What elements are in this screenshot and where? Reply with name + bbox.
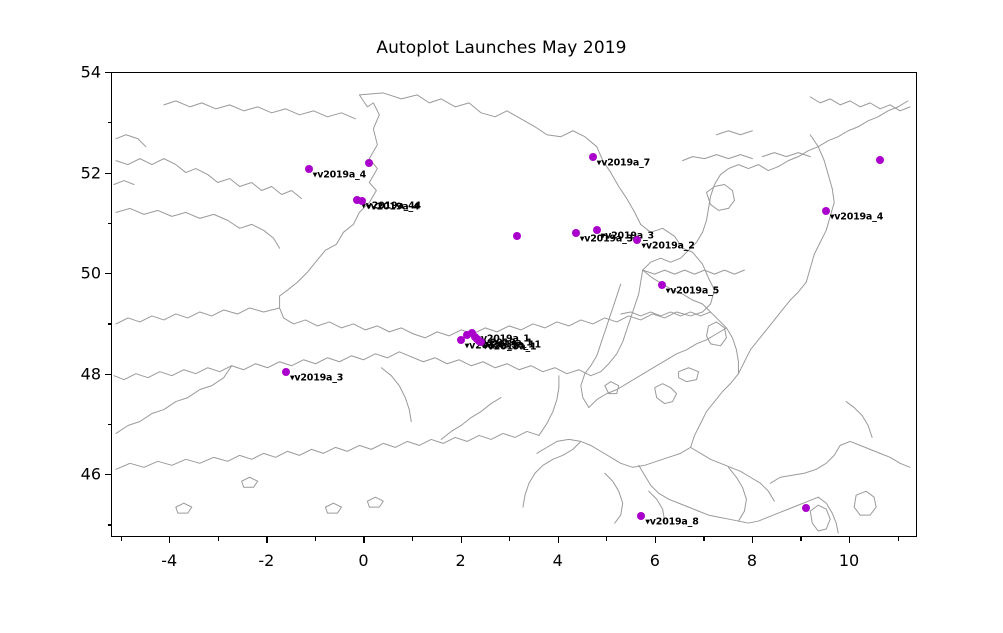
y-axis-tick-label: 54 bbox=[71, 63, 101, 82]
x-axis-tick-label: -4 bbox=[161, 551, 177, 570]
scatter-point[interactable] bbox=[633, 236, 641, 244]
scatter-point-label: ▾v2019a_5 bbox=[666, 286, 719, 297]
x-axis-minor-tick bbox=[606, 537, 607, 541]
scatter-point-label: ▾v2019a_4 bbox=[830, 212, 883, 223]
x-axis-minor-tick bbox=[509, 537, 510, 541]
x-axis-tick bbox=[752, 537, 753, 543]
x-axis-minor-tick bbox=[412, 537, 413, 541]
y-axis-tick bbox=[105, 72, 111, 73]
scatter-point[interactable] bbox=[637, 512, 645, 520]
scatter-point[interactable] bbox=[365, 159, 373, 167]
y-axis-minor-tick bbox=[108, 122, 112, 123]
x-axis-tick bbox=[849, 537, 850, 543]
x-axis-minor-tick bbox=[898, 537, 899, 541]
y-axis-tick bbox=[105, 173, 111, 174]
y-axis-tick-label: 48 bbox=[71, 364, 101, 383]
scatter-point[interactable] bbox=[305, 165, 313, 173]
scatter-point-label: ▾v2019a_8 bbox=[645, 517, 698, 528]
x-axis-tick bbox=[363, 537, 364, 543]
scatter-point[interactable] bbox=[822, 207, 830, 215]
x-axis-tick bbox=[655, 537, 656, 543]
x-axis-tick-label: 0 bbox=[358, 551, 368, 570]
scatter-point-label: ▾v2019a_7 bbox=[597, 158, 650, 169]
scatter-point[interactable] bbox=[513, 232, 521, 240]
scatter-point-label: ▾v2019a_3 bbox=[601, 230, 654, 241]
y-axis-minor-tick bbox=[108, 524, 112, 525]
coastline-map bbox=[112, 73, 916, 536]
x-axis-minor-tick bbox=[121, 537, 122, 541]
scatter-point[interactable] bbox=[802, 504, 810, 512]
y-axis-tick bbox=[105, 273, 111, 274]
y-axis-tick bbox=[105, 474, 111, 475]
y-axis-minor-tick bbox=[108, 424, 112, 425]
scatter-point[interactable] bbox=[658, 281, 666, 289]
x-axis-minor-tick bbox=[315, 537, 316, 541]
scatter-point-label: ▾v2019a_2 bbox=[641, 241, 694, 252]
y-axis-tick-label: 46 bbox=[71, 465, 101, 484]
scatter-point-label: ▾v2019a_1 bbox=[483, 342, 536, 353]
scatter-point-label: ▾v2019a_4 bbox=[313, 169, 366, 180]
x-axis-tick bbox=[169, 537, 170, 543]
y-axis-tick-label: 50 bbox=[71, 264, 101, 283]
x-axis-tick-label: 8 bbox=[747, 551, 757, 570]
y-axis-minor-tick bbox=[108, 223, 112, 224]
scatter-point[interactable] bbox=[282, 368, 290, 376]
x-axis-tick-label: -2 bbox=[258, 551, 274, 570]
page-title: Autoplot Launches May 2019 bbox=[0, 38, 1003, 58]
x-axis-tick-label: 10 bbox=[839, 551, 859, 570]
figure-canvas: Autoplot Launches May 2019 bbox=[0, 0, 1003, 633]
scatter-point[interactable] bbox=[589, 153, 597, 161]
y-axis-tick bbox=[105, 374, 111, 375]
x-axis-tick-label: 6 bbox=[650, 551, 660, 570]
scatter-point[interactable] bbox=[593, 226, 601, 234]
x-axis-minor-tick bbox=[800, 537, 801, 541]
scatter-point-label: ▾v2019a_4 bbox=[366, 201, 419, 212]
scatter-point[interactable] bbox=[358, 197, 366, 205]
map-plot-area[interactable]: ▾v2019a_4▾v2019a_44▾v2019a_4▾v2019a_7▾v2… bbox=[111, 72, 917, 537]
scatter-point[interactable] bbox=[477, 338, 485, 346]
y-axis-minor-tick bbox=[108, 323, 112, 324]
scatter-point-label: ▾v2019a_3 bbox=[290, 373, 343, 384]
x-axis-tick-label: 2 bbox=[455, 551, 465, 570]
x-axis-tick-label: 4 bbox=[553, 551, 563, 570]
x-axis-tick bbox=[461, 537, 462, 543]
x-axis-tick bbox=[558, 537, 559, 543]
scatter-point[interactable] bbox=[572, 229, 580, 237]
x-axis-minor-tick bbox=[218, 537, 219, 541]
scatter-point[interactable] bbox=[876, 156, 884, 164]
x-axis-minor-tick bbox=[703, 537, 704, 541]
x-axis-tick bbox=[266, 537, 267, 543]
y-axis-tick-label: 52 bbox=[71, 163, 101, 182]
